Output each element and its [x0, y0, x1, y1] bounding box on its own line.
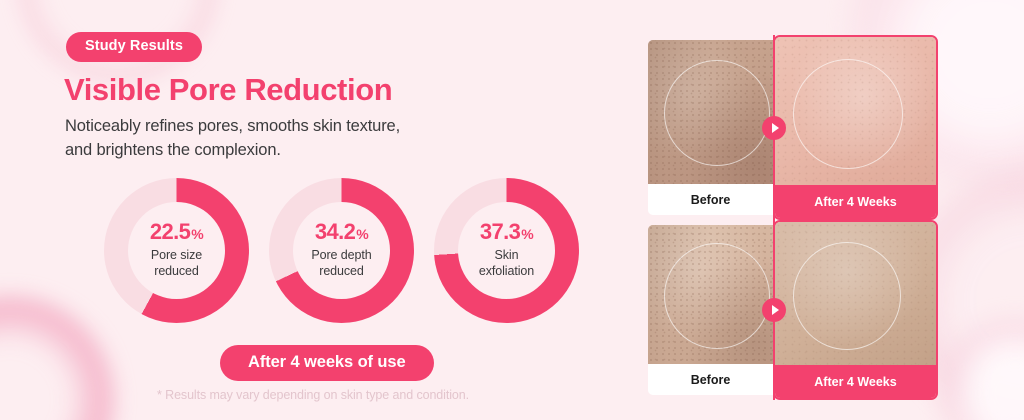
donut-value: 34.2 %: [315, 221, 368, 243]
donut-label-line-1: Pore size: [151, 248, 202, 264]
donut-label: Pore depth reduced: [311, 248, 371, 279]
percent-symbol: %: [191, 227, 203, 241]
disclaimer-note: * Results may vary depending on skin typ…: [157, 388, 469, 402]
after-caption: After 4 Weeks: [775, 185, 936, 218]
decorative-bubble: [940, 318, 1024, 420]
donut-chart-pore-size: 22.5 % Pore size reduced: [104, 178, 249, 323]
focus-circle: [793, 59, 903, 169]
donut-center: 34.2 % Pore depth reduced: [293, 202, 390, 299]
after-card: After 4 Weeks: [773, 35, 938, 220]
play-icon[interactable]: [762, 298, 786, 322]
focus-circle: [793, 242, 901, 350]
left-content: Study Results Visible Pore Reduction Not…: [0, 0, 600, 420]
donut-chart-skin-exfoliation: 37.3 % Skin exfoliation: [434, 178, 579, 323]
before-card: Before: [648, 225, 773, 395]
before-after-panel: Before After 4 Weeks: [648, 225, 938, 395]
donut-center: 37.3 % Skin exfoliation: [458, 202, 555, 299]
donut-value-number: 37.3: [480, 221, 520, 243]
before-photo: [648, 225, 773, 364]
donut-center: 22.5 % Pore size reduced: [128, 202, 225, 299]
after-photo: [775, 222, 936, 365]
donut-label-line-2: reduced: [311, 264, 371, 280]
after-four-weeks-pill: After 4 weeks of use: [220, 345, 434, 381]
donut-chart-pore-depth: 34.2 % Pore depth reduced: [269, 178, 414, 323]
percent-symbol: %: [521, 227, 533, 241]
after-card: After 4 Weeks: [773, 220, 938, 400]
donut-label: Skin exfoliation: [479, 248, 534, 279]
after-photo: [775, 37, 936, 185]
play-icon[interactable]: [762, 116, 786, 140]
subcopy-line-1: Noticeably refines pores, smooths skin t…: [65, 114, 400, 138]
focus-circle: [664, 60, 770, 166]
page-title: Visible Pore Reduction: [64, 73, 392, 107]
after-caption: After 4 Weeks: [775, 365, 936, 398]
donut-label-line-1: Skin: [479, 248, 534, 264]
percent-symbol: %: [356, 227, 368, 241]
before-after-panel: Before After 4 Weeks: [648, 40, 938, 215]
study-results-badge: Study Results: [66, 32, 202, 62]
donut-label-line-2: exfoliation: [479, 264, 534, 280]
donut-value-number: 34.2: [315, 221, 355, 243]
promo-banner: Study Results Visible Pore Reduction Not…: [0, 0, 1024, 420]
before-caption: Before: [648, 364, 773, 395]
subcopy: Noticeably refines pores, smooths skin t…: [65, 114, 400, 163]
donut-value: 37.3 %: [480, 221, 533, 243]
donut-value: 22.5 %: [150, 221, 203, 243]
donut-label: Pore size reduced: [151, 248, 202, 279]
before-photo: [648, 40, 773, 184]
before-caption: Before: [648, 184, 773, 215]
donut-label-line-1: Pore depth: [311, 248, 371, 264]
subcopy-line-2: and brightens the complexion.: [65, 138, 400, 162]
donut-chart-group: 22.5 % Pore size reduced 34.2 %: [104, 178, 584, 323]
focus-circle: [664, 243, 770, 349]
before-card: Before: [648, 40, 773, 215]
donut-value-number: 22.5: [150, 221, 190, 243]
before-after-panels: Before After 4 Weeks: [648, 0, 944, 420]
donut-label-line-2: reduced: [151, 264, 202, 280]
